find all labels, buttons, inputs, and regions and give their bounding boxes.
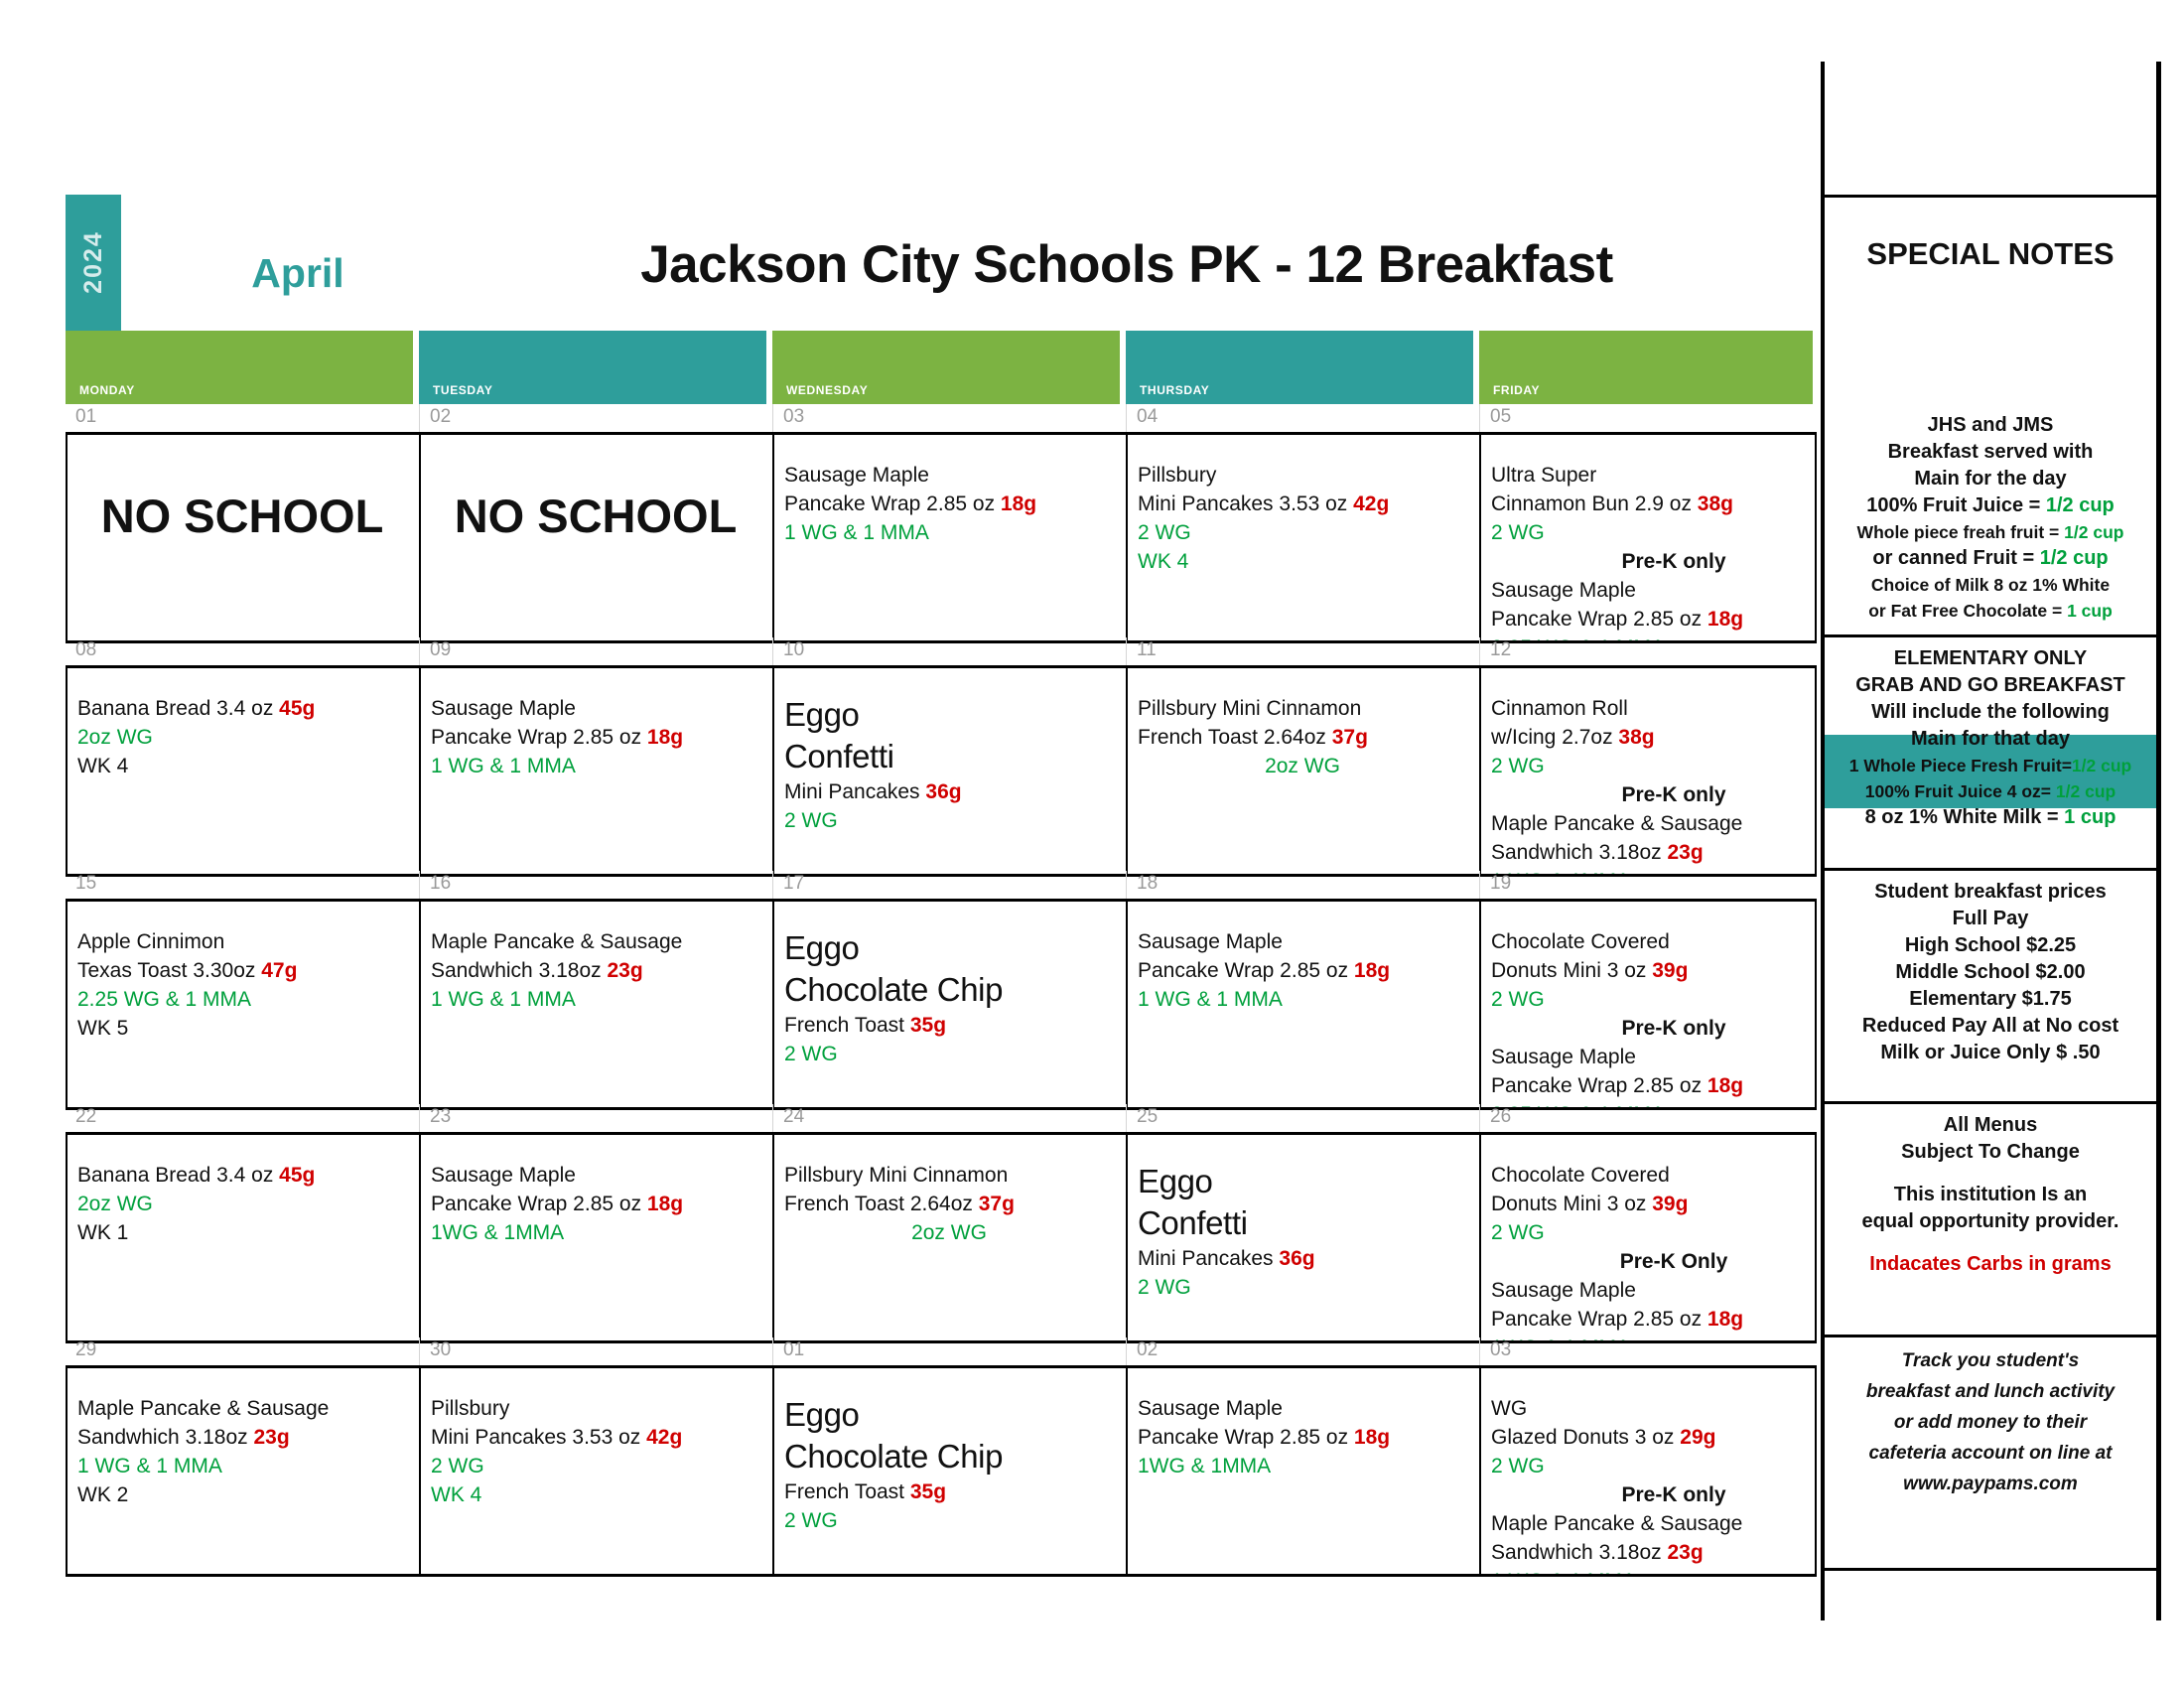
menu-text: WK 4 bbox=[1138, 550, 1188, 573]
note-line: equal opportunity provider. bbox=[1825, 1208, 2156, 1235]
menu-line: Chocolate Covered bbox=[1491, 1161, 1805, 1190]
day-number: 22 bbox=[75, 1106, 96, 1128]
menu-text: Sausage Maple bbox=[1138, 1397, 1283, 1420]
menu-line: 2oz WG bbox=[1138, 752, 1467, 780]
menu-text: Sandwhich 3.18oz bbox=[431, 959, 607, 982]
carb-grams: 23g bbox=[1667, 1541, 1703, 1564]
note-text: 8 oz 1% White Milk = bbox=[1865, 806, 2065, 828]
calendar-cell-row: Apple CinnimonTexas Toast 3.30oz 47g2.25… bbox=[66, 899, 1817, 1110]
menu-line: WK 4 bbox=[77, 752, 407, 780]
note-line: breakfast and lunch activity bbox=[1825, 1376, 2156, 1407]
menu-line: Pre-K only bbox=[1491, 780, 1805, 809]
menu-text: Confetti bbox=[1138, 1204, 1248, 1241]
note-text: Choice of Milk 8 oz 1% White bbox=[1871, 575, 2110, 595]
note-line: Choice of Milk 8 oz 1% White bbox=[1825, 572, 2156, 598]
carb-grams: 18g bbox=[1707, 1308, 1743, 1331]
day-number-strip: 2930010203 bbox=[66, 1337, 1817, 1365]
carb-grams: 18g bbox=[1707, 1074, 1743, 1097]
note-text: ELEMENTARY ONLY bbox=[1894, 647, 2087, 669]
day-number: 26 bbox=[1490, 1106, 1511, 1128]
menu-line: 2 WG bbox=[1491, 518, 1805, 547]
menu-text: 2oz WG bbox=[77, 726, 153, 749]
menu-text: 1 WG & 1 MMA bbox=[431, 755, 576, 777]
menu-line: Banana Bread 3.4 oz 45g bbox=[77, 694, 407, 723]
note-text: Reduced Pay All at No cost bbox=[1862, 1015, 2118, 1037]
day-number: 16 bbox=[430, 873, 451, 895]
note-line: www.paypams.com bbox=[1825, 1469, 2156, 1499]
menu-line: Maple Pancake & Sausage bbox=[1491, 809, 1805, 838]
menu-text: 2 WG bbox=[431, 1455, 484, 1477]
menu-line: 2 WG bbox=[784, 806, 1114, 835]
menu-text: Glazed Donuts 3 oz bbox=[1491, 1426, 1680, 1449]
note-text: JHS and JMS bbox=[1928, 414, 2054, 436]
menu-line: French Toast 35g bbox=[784, 1011, 1114, 1040]
day-number: 17 bbox=[783, 873, 804, 895]
day-number-strip: 1516171819 bbox=[66, 871, 1817, 899]
menu-text: 2 WG bbox=[784, 1509, 838, 1532]
note-text: www.paypams.com bbox=[1903, 1474, 2078, 1494]
carb-grams: 23g bbox=[1667, 841, 1703, 864]
menu-line: Sandwhich 3.18oz 23g bbox=[1491, 838, 1805, 867]
weekday-header-monday: MONDAY bbox=[66, 331, 413, 404]
menu-text: 2 WG bbox=[1491, 1221, 1545, 1244]
menu-text: 1WG & 1MMA bbox=[431, 1221, 564, 1244]
menu-line: NO SCHOOL bbox=[431, 435, 760, 539]
note-line: Main for the day bbox=[1825, 466, 2156, 492]
note-text: Whole piece freah fruit = bbox=[1857, 522, 2065, 542]
menu-text: 1 WG & 1 MMA bbox=[1138, 988, 1283, 1011]
day-number-cell: 18 bbox=[1126, 871, 1478, 899]
day-number: 15 bbox=[75, 873, 96, 895]
menu-text: French Toast bbox=[784, 1480, 910, 1503]
menu-text: WK 1 bbox=[77, 1221, 128, 1244]
menu-line: Sausage Maple bbox=[431, 694, 760, 723]
day-number: 10 bbox=[783, 639, 804, 661]
note-text: 1 Whole Piece Fresh Fruit= bbox=[1849, 756, 2072, 775]
menu-line: Maple Pancake & Sausage bbox=[1491, 1509, 1805, 1538]
calendar-day-cell[interactable]: PillsburyMini Pancakes 3.53 oz 42g2 WGWK… bbox=[1126, 435, 1477, 640]
special-note-block: ELEMENTARY ONLYGRAB AND GO BREAKFASTWill… bbox=[1825, 637, 2156, 871]
calendar-day-cell[interactable]: Cinnamon Rollw/Icing 2.7oz 38g2 WGPre-K … bbox=[1479, 668, 1817, 874]
menu-line: Chocolate Chip bbox=[784, 969, 1114, 1011]
menu-text: Pillsbury Mini Cinnamon bbox=[1138, 697, 1361, 720]
note-line: GRAB AND GO BREAKFAST bbox=[1825, 672, 2156, 699]
note-text: or Fat Free Chocolate = bbox=[1868, 601, 2067, 621]
menu-text: Eggo bbox=[784, 696, 859, 733]
menu-line: Mini Pancakes 3.53 oz 42g bbox=[1138, 490, 1467, 518]
menu-text: Pancake Wrap 2.85 oz bbox=[431, 1193, 647, 1215]
carb-grams: 23g bbox=[607, 959, 642, 982]
menu-text: 2 WG bbox=[784, 809, 838, 832]
menu-line: Pancake Wrap 2.85 oz 18g bbox=[431, 723, 760, 752]
day-number-cell: 19 bbox=[1479, 871, 1818, 899]
note-text: Middle School $2.00 bbox=[1895, 961, 2085, 983]
note-line: 1 Whole Piece Fresh Fruit=1/2 cup bbox=[1825, 753, 2156, 778]
day-number: 09 bbox=[430, 639, 451, 661]
menu-text: Apple Cinnimon bbox=[77, 930, 224, 953]
menu-line: 2oz WG bbox=[77, 723, 407, 752]
special-notes-title: SPECIAL NOTES bbox=[1827, 236, 2154, 272]
menu-text: Chocolate Covered bbox=[1491, 930, 1670, 953]
menu-line: 1 WG & 1 MMA bbox=[784, 518, 1114, 547]
note-line: or add money to their bbox=[1825, 1407, 2156, 1438]
day-number-strip: 0102030405 bbox=[66, 404, 1817, 432]
menu-text: Cinnamon Bun 2.9 oz bbox=[1491, 492, 1698, 515]
day-number-cell: 03 bbox=[772, 404, 1125, 432]
menu-text: Sausage Maple bbox=[431, 697, 576, 720]
note-line: Student breakfast prices bbox=[1825, 879, 2156, 906]
menu-line: Sandwhich 3.18oz 23g bbox=[77, 1423, 407, 1452]
menu-text: Sausage Maple bbox=[784, 464, 929, 487]
note-text: 100% Fruit Juice 4 oz= bbox=[1865, 781, 2056, 801]
menu-line: WK 2 bbox=[77, 1480, 407, 1509]
carb-grams: 35g bbox=[910, 1014, 946, 1037]
note-line: Whole piece freah fruit = 1/2 cup bbox=[1825, 519, 2156, 545]
menu-line: French Toast 35g bbox=[784, 1477, 1114, 1506]
menu-line: Pancake Wrap 2.85 oz 18g bbox=[431, 1190, 760, 1218]
note-text: Elementary $1.75 bbox=[1909, 988, 2071, 1010]
calendar-cell-row: Banana Bread 3.4 oz 45g 2oz WGWK 4Sausag… bbox=[66, 665, 1817, 877]
menu-line: w/Icing 2.7oz 38g bbox=[1491, 723, 1805, 752]
day-number-cell: 15 bbox=[66, 871, 417, 899]
menu-line: WK 1 bbox=[77, 1218, 407, 1247]
menu-text: Mini Pancakes bbox=[1138, 1247, 1279, 1270]
menu-text: Chocolate Chip bbox=[784, 1438, 1003, 1475]
day-number-cell: 02 bbox=[419, 404, 771, 432]
menu-line: 2 WG bbox=[1138, 518, 1467, 547]
menu-line: Eggo bbox=[784, 1394, 1114, 1436]
menu-text: Sandwhich 3.18oz bbox=[1491, 1541, 1667, 1564]
day-number-cell: 24 bbox=[772, 1104, 1125, 1132]
menu-line: Cinnamon Bun 2.9 oz 38g bbox=[1491, 490, 1805, 518]
menu-text: Maple Pancake & Sausage bbox=[431, 930, 682, 953]
menu-line: Pre-K only bbox=[1491, 1480, 1805, 1509]
menu-text: Pancake Wrap 2.85 oz bbox=[1138, 959, 1354, 982]
menu-line: Sausage Maple bbox=[1491, 1043, 1805, 1071]
day-number-cell: 29 bbox=[66, 1337, 417, 1365]
portion-amount: 1/2 cup bbox=[2056, 781, 2116, 801]
day-number-cell: 17 bbox=[772, 871, 1125, 899]
day-number: 01 bbox=[783, 1339, 804, 1361]
menu-line: Apple Cinnimon bbox=[77, 927, 407, 956]
note-text: This institution Is an bbox=[1894, 1184, 2087, 1205]
menu-text: Chocolate Covered bbox=[1491, 1164, 1670, 1187]
menu-text: 2.25 WG & 1 MMA bbox=[77, 988, 251, 1011]
day-number: 04 bbox=[1137, 406, 1158, 428]
special-note-block: JHS and JMSBreakfast served withMain for… bbox=[1825, 404, 2156, 637]
day-number: 02 bbox=[430, 406, 451, 428]
menu-line: Eggo bbox=[784, 694, 1114, 736]
carb-grams: 18g bbox=[1354, 959, 1390, 982]
calendar-week-row: 0102030405NO SCHOOLNO SCHOOLSausage Mapl… bbox=[66, 404, 1817, 637]
menu-text: Chocolate Chip bbox=[784, 971, 1003, 1008]
calendar-day-cell[interactable]: NO SCHOOL bbox=[419, 435, 770, 640]
menu-line: Chocolate Covered bbox=[1491, 927, 1805, 956]
carb-grams: 35g bbox=[910, 1480, 946, 1503]
calendar-day-cell[interactable]: Maple Pancake & SausageSandwhich 3.18oz … bbox=[419, 902, 770, 1107]
menu-text: 2oz WG bbox=[77, 1193, 153, 1215]
weekday-label: FRIDAY bbox=[1493, 383, 1540, 397]
menu-text: 2 WG bbox=[1491, 988, 1545, 1011]
menu-line: Pre-K only bbox=[1491, 1014, 1805, 1043]
weekday-header-tuesday: TUESDAY bbox=[419, 331, 766, 404]
day-number-cell: 25 bbox=[1126, 1104, 1478, 1132]
day-number-cell: 10 bbox=[772, 637, 1125, 665]
special-note-block: Student breakfast pricesFull PayHigh Sch… bbox=[1825, 871, 2156, 1104]
carb-grams: 47g bbox=[261, 959, 297, 982]
menu-line: Eggo bbox=[784, 927, 1114, 969]
carb-grams: 37g bbox=[979, 1193, 1015, 1215]
portion-amount: 1/2 cup bbox=[2072, 756, 2131, 775]
menu-text: 2oz WG bbox=[911, 1221, 987, 1244]
year-ribbon: 2024 bbox=[66, 195, 121, 334]
menu-line: Mini Pancakes 36g bbox=[784, 777, 1114, 806]
menu-text: Donuts Mini 3 oz bbox=[1491, 1193, 1652, 1215]
day-number-cell: 11 bbox=[1126, 637, 1478, 665]
menu-line: Pancake Wrap 2.85 oz 18g bbox=[1491, 1071, 1805, 1100]
menu-text: Pancake Wrap 2.85 oz bbox=[784, 492, 1001, 515]
menu-line: Pre-K only bbox=[1491, 547, 1805, 576]
menu-text: 2 WG bbox=[1491, 1455, 1545, 1477]
menu-text: Mini Pancakes bbox=[784, 780, 925, 803]
day-number-cell: 05 bbox=[1479, 404, 1818, 432]
note-line: or canned Fruit = 1/2 cup bbox=[1825, 545, 2156, 572]
note-text: Track you student's bbox=[1902, 1350, 2079, 1371]
note-spacer bbox=[1825, 1235, 2156, 1251]
menu-line: 1 WG & 1 MMA bbox=[431, 985, 760, 1014]
calendar-day-cell[interactable]: Sausage MaplePancake Wrap 2.85 oz 18g1 W… bbox=[772, 435, 1124, 640]
carb-grams: 38g bbox=[1618, 726, 1654, 749]
calendar-day-cell[interactable]: Ultra SuperCinnamon Bun 2.9 oz 38g2 WGPr… bbox=[1479, 435, 1817, 640]
weekday-header-friday: FRIDAY bbox=[1479, 331, 1813, 404]
menu-line: Pancake Wrap 2.85 oz 18g bbox=[1138, 956, 1467, 985]
menu-text: Ultra Super bbox=[1491, 464, 1596, 487]
note-line: Track you student's bbox=[1825, 1345, 2156, 1376]
note-line: Middle School $2.00 bbox=[1825, 959, 2156, 986]
day-number-strip: 0809101112 bbox=[66, 637, 1817, 665]
month-label: April bbox=[189, 250, 407, 297]
calendar-day-cell[interactable]: Pillsbury Mini CinnamonFrench Toast 2.64… bbox=[772, 1135, 1124, 1340]
menu-line: 1 WG & 1 MMA bbox=[1138, 985, 1467, 1014]
menu-line: WK 4 bbox=[1138, 547, 1467, 576]
carb-grams: 42g bbox=[1353, 492, 1389, 515]
calendar-day-cell[interactable]: EggoChocolate ChipFrench Toast 35g2 WG bbox=[772, 902, 1124, 1107]
menu-line: Sausage Maple bbox=[1491, 576, 1805, 605]
day-number-cell: 26 bbox=[1479, 1104, 1818, 1132]
menu-line: Pillsbury bbox=[431, 1394, 760, 1423]
calendar-day-cell[interactable]: Apple CinnimonTexas Toast 3.30oz 47g2.25… bbox=[66, 902, 417, 1107]
menu-line: 2 WG bbox=[1138, 1273, 1467, 1302]
menu-text: WG bbox=[1491, 1397, 1527, 1420]
menu-line: 1 WG & 1 MMA bbox=[77, 1452, 407, 1480]
calendar-day-cell[interactable]: Banana Bread 3.4 oz 45g 2oz WGWK 1 bbox=[66, 1135, 417, 1340]
menu-text: 1 WG & 1 MMA bbox=[77, 1455, 222, 1477]
menu-line: Pancake Wrap 2.85 oz 18g bbox=[1491, 605, 1805, 633]
menu-text: 1 WG & 1 MMA bbox=[1491, 1570, 1636, 1574]
menu-line: Sandwhich 3.18oz 23g bbox=[431, 956, 760, 985]
menu-text: French Toast 2.64oz bbox=[784, 1193, 979, 1215]
menu-line: Mini Pancakes 36g bbox=[1138, 1244, 1467, 1273]
menu-text: NO SCHOOL bbox=[101, 490, 384, 542]
menu-line: Donuts Mini 3 oz 39g bbox=[1491, 1190, 1805, 1218]
carb-grams: 39g bbox=[1652, 959, 1688, 982]
carb-grams: 36g bbox=[925, 780, 961, 803]
note-line: This institution Is an bbox=[1825, 1182, 2156, 1208]
menu-line: 2.25 WG & 1 MMA bbox=[77, 985, 407, 1014]
day-number-cell: 01 bbox=[772, 1337, 1125, 1365]
special-note-block: All MenusSubject To ChangeThis instituti… bbox=[1825, 1104, 2156, 1337]
page-title: Jackson City Schools PK - 12 Breakfast bbox=[467, 234, 1787, 295]
calendar-day-cell[interactable]: WGGlazed Donuts 3 oz 29g2 WGPre-K onlyMa… bbox=[1479, 1368, 1817, 1574]
note-text: or canned Fruit = bbox=[1872, 547, 2039, 569]
calendar-day-cell[interactable]: EggoConfettiMini Pancakes 36g2 WG bbox=[1126, 1135, 1477, 1340]
calendar-day-cell[interactable]: Chocolate CoveredDonuts Mini 3 oz 39g2 W… bbox=[1479, 1135, 1817, 1340]
day-number-cell: 03 bbox=[1479, 1337, 1818, 1365]
day-number-cell: 22 bbox=[66, 1104, 417, 1132]
weekday-header-thursday: THURSDAY bbox=[1126, 331, 1473, 404]
day-number: 11 bbox=[1137, 639, 1157, 661]
calendar-day-cell[interactable]: Maple Pancake & SausageSandwhich 3.18oz … bbox=[66, 1368, 417, 1574]
menu-line: 2 WG bbox=[784, 1506, 1114, 1535]
menu-line: 2oz WG bbox=[77, 1190, 407, 1218]
menu-text: Mini Pancakes 3.53 oz bbox=[1138, 492, 1353, 515]
calendar-day-cell[interactable]: NO SCHOOL bbox=[66, 435, 417, 640]
menu-line: Ultra Super bbox=[1491, 461, 1805, 490]
menu-line: French Toast 2.64oz 37g bbox=[1138, 723, 1467, 752]
calendar-day-cell[interactable]: PillsburyMini Pancakes 3.53 oz 42g2 WGWK… bbox=[419, 1368, 770, 1574]
portion-amount: 1 cup bbox=[2067, 601, 2113, 621]
menu-text: 2 WG bbox=[1491, 521, 1545, 544]
weekday-header-row: MONDAYTUESDAYWEDNESDAYTHURSDAYFRIDAY bbox=[66, 331, 2156, 404]
menu-text: Pancake Wrap 2.85 oz bbox=[1491, 1308, 1707, 1331]
note-text: breakfast and lunch activity bbox=[1866, 1381, 2115, 1402]
note-line: 8 oz 1% White Milk = 1 cup bbox=[1825, 804, 2156, 831]
day-number: 23 bbox=[430, 1106, 451, 1128]
day-number: 30 bbox=[430, 1339, 451, 1361]
menu-text: Confetti bbox=[784, 738, 894, 774]
day-number: 05 bbox=[1490, 406, 1511, 428]
menu-text: French Toast 2.64oz bbox=[1138, 726, 1332, 749]
calendar-day-cell[interactable]: Pillsbury Mini CinnamonFrench Toast 2.64… bbox=[1126, 668, 1477, 874]
menu-text: 2 WG bbox=[1491, 755, 1545, 777]
calendar-day-cell[interactable]: Banana Bread 3.4 oz 45g 2oz WGWK 4 bbox=[66, 668, 417, 874]
calendar-day-cell[interactable]: Chocolate CoveredDonuts Mini 3 oz 39g2 W… bbox=[1479, 902, 1817, 1107]
menu-text: WK 5 bbox=[77, 1017, 128, 1040]
calendar-cell-row: NO SCHOOLNO SCHOOLSausage MaplePancake W… bbox=[66, 432, 1817, 643]
menu-text: Pre-K only bbox=[1621, 1483, 1725, 1506]
note-text: cafeteria account on line at bbox=[1869, 1443, 2113, 1464]
menu-line: 2 WG bbox=[1491, 985, 1805, 1014]
menu-text: Pancake Wrap 2.85 oz bbox=[1138, 1426, 1354, 1449]
calendar-cell-row: Banana Bread 3.4 oz 45g 2oz WGWK 1Sausag… bbox=[66, 1132, 1817, 1343]
menu-line: Glazed Donuts 3 oz 29g bbox=[1491, 1423, 1805, 1452]
menu-line: Sandwhich 3.18oz 23g bbox=[1491, 1538, 1805, 1567]
note-line: cafeteria account on line at bbox=[1825, 1438, 2156, 1469]
day-number: 29 bbox=[75, 1339, 96, 1361]
menu-line: Chocolate Chip bbox=[784, 1436, 1114, 1477]
day-number: 03 bbox=[783, 406, 804, 428]
menu-text: Pillsbury Mini Cinnamon bbox=[784, 1164, 1008, 1187]
year-label: 2024 bbox=[73, 193, 113, 332]
note-text: equal opportunity provider. bbox=[1862, 1210, 2119, 1232]
menu-text: Eggo bbox=[1138, 1163, 1212, 1199]
menu-text: Sausage Maple bbox=[1138, 930, 1283, 953]
menu-text: w/Icing 2.7oz bbox=[1491, 726, 1618, 749]
menu-line: Sausage Maple bbox=[1491, 1276, 1805, 1305]
menu-line: Banana Bread 3.4 oz 45g bbox=[77, 1161, 407, 1190]
menu-line: Pancake Wrap 2.85 oz 18g bbox=[1491, 1305, 1805, 1334]
calendar-day-cell[interactable]: Sausage MaplePancake Wrap 2.85 oz 18g1WG… bbox=[1126, 1368, 1477, 1574]
day-number: 08 bbox=[75, 639, 96, 661]
note-text: Subject To Change bbox=[1901, 1141, 2080, 1163]
menu-text: Pre-K Only bbox=[1620, 1250, 1728, 1273]
note-text: High School $2.25 bbox=[1905, 934, 2076, 956]
special-notes-column: JHS and JMSBreakfast served withMain for… bbox=[1825, 404, 2156, 1571]
carb-grams: 18g bbox=[1354, 1426, 1390, 1449]
menu-text: Mini Pancakes 3.53 oz bbox=[431, 1426, 646, 1449]
calendar-day-cell[interactable]: EggoConfettiMini Pancakes 36g2 WG bbox=[772, 668, 1124, 874]
menu-line: Sausage Maple bbox=[431, 1161, 760, 1190]
weekday-label: THURSDAY bbox=[1140, 383, 1209, 397]
note-text: All Menus bbox=[1944, 1114, 2037, 1136]
menu-line: Donuts Mini 3 oz 39g bbox=[1491, 956, 1805, 985]
menu-text: Maple Pancake & Sausage bbox=[1491, 1512, 1742, 1535]
note-text: GRAB AND GO BREAKFAST bbox=[1855, 674, 2124, 696]
carb-grams: 42g bbox=[646, 1426, 682, 1449]
menu-text: 2 WG bbox=[1138, 521, 1191, 544]
calendar-day-cell[interactable]: EggoChocolate ChipFrench Toast 35g2 WG bbox=[772, 1368, 1124, 1574]
calendar-day-cell[interactable]: Sausage MaplePancake Wrap 2.85 oz 18g1WG… bbox=[419, 1135, 770, 1340]
menu-text: Eggo bbox=[784, 929, 859, 966]
note-line: Will include the following bbox=[1825, 699, 2156, 726]
special-note-block: Track you student'sbreakfast and lunch a… bbox=[1825, 1337, 2156, 1571]
menu-line: Mini Pancakes 3.53 oz 42g bbox=[431, 1423, 760, 1452]
menu-line: WK 4 bbox=[431, 1480, 760, 1509]
portion-amount: 1/2 cup bbox=[2046, 494, 2115, 516]
menu-text: Banana Bread 3.4 oz bbox=[77, 697, 279, 720]
menu-line: Pillsbury Mini Cinnamon bbox=[784, 1161, 1114, 1190]
menu-text: Sausage Maple bbox=[1491, 1046, 1636, 1068]
menu-line: Sausage Maple bbox=[1138, 1394, 1467, 1423]
note-text: Main for the day bbox=[1914, 468, 2066, 490]
weekday-label: WEDNESDAY bbox=[786, 383, 868, 397]
menu-line: Pre-K Only bbox=[1491, 1247, 1805, 1276]
menu-line: 2 WG bbox=[1491, 752, 1805, 780]
note-line: JHS and JMS bbox=[1825, 412, 2156, 439]
menu-line: 1WG & 1MMA bbox=[1138, 1452, 1467, 1480]
note-line: Indacates Carbs in grams bbox=[1825, 1251, 2156, 1278]
day-number: 25 bbox=[1137, 1106, 1158, 1128]
menu-text: Banana Bread 3.4 oz bbox=[77, 1164, 279, 1187]
menu-text: Sausage Maple bbox=[431, 1164, 576, 1187]
day-number-cell: 09 bbox=[419, 637, 771, 665]
menu-text: Pillsbury bbox=[1138, 464, 1216, 487]
menu-text: Sausage Maple bbox=[1491, 579, 1636, 602]
day-number: 12 bbox=[1490, 639, 1511, 661]
weekday-label: TUESDAY bbox=[433, 383, 492, 397]
menu-text: WK 4 bbox=[431, 1483, 481, 1506]
menu-line: Eggo bbox=[1138, 1161, 1467, 1202]
day-number-strip: 2223242526 bbox=[66, 1104, 1817, 1132]
menu-line: WG bbox=[1491, 1394, 1805, 1423]
note-text: Full Pay bbox=[1953, 908, 2029, 929]
menu-text: Sandwhich 3.18oz bbox=[77, 1426, 253, 1449]
calendar-day-cell[interactable]: Sausage MaplePancake Wrap 2.85 oz 18g1 W… bbox=[1126, 902, 1477, 1107]
carb-grams: 18g bbox=[1001, 492, 1036, 515]
note-line: or Fat Free Chocolate = 1 cup bbox=[1825, 598, 2156, 624]
calendar-day-cell[interactable]: Sausage MaplePancake Wrap 2.85 oz 18g1 W… bbox=[419, 668, 770, 874]
menu-line: Texas Toast 3.30oz 47g bbox=[77, 956, 407, 985]
